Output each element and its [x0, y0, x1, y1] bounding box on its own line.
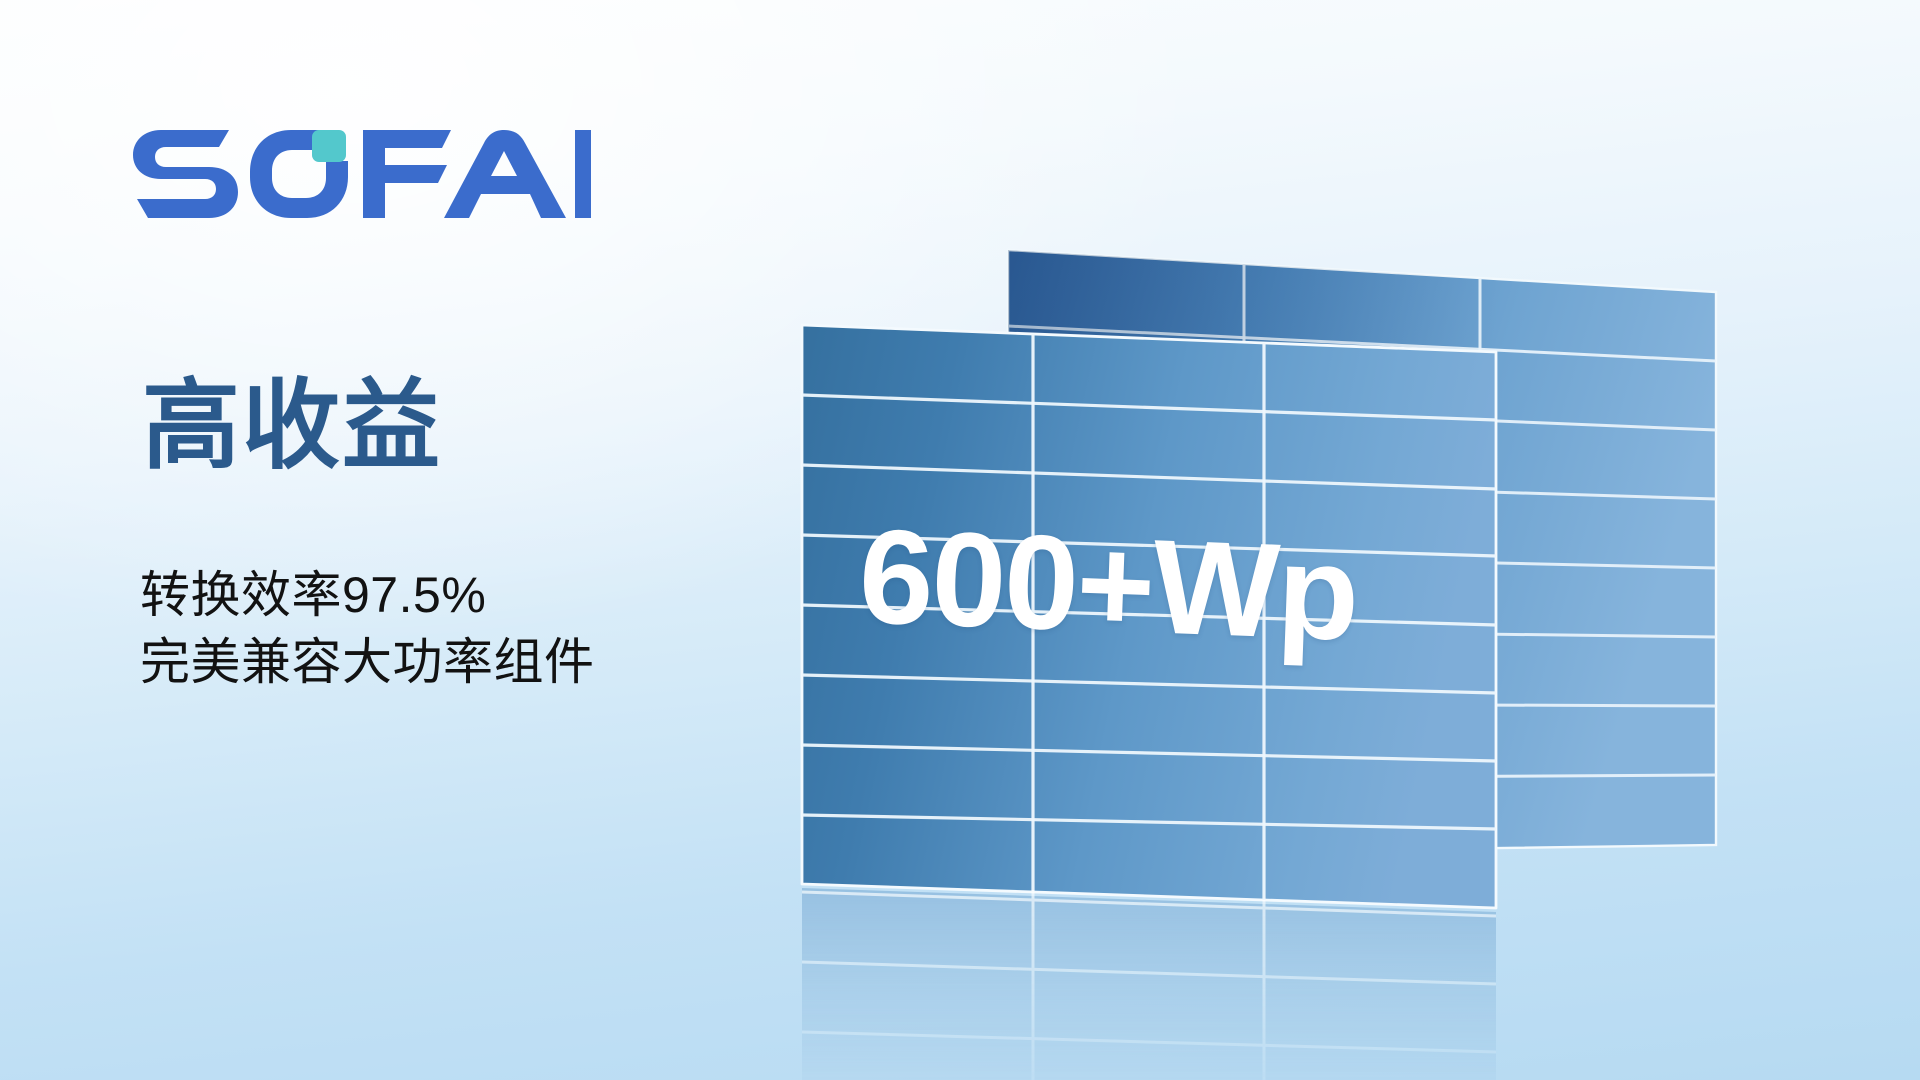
- hero-banner: 600+Wp 高收益 转换效率97.5% 完美兼容大功率组件: [0, 0, 1920, 1080]
- feature-subtext: 转换效率97.5% 完美兼容大功率组件: [140, 562, 595, 696]
- feature-subtext-line-2: 完美兼容大功率组件: [140, 629, 595, 696]
- solar-panel-illustration: 600+Wp: [0, 0, 1920, 1080]
- feature-subtext-line-1: 转换效率97.5%: [140, 567, 486, 623]
- product-wattage-badge: 600+Wp: [857, 500, 1360, 671]
- panel-reflection-icon: [802, 888, 1496, 1080]
- page-title: 高收益: [142, 374, 442, 477]
